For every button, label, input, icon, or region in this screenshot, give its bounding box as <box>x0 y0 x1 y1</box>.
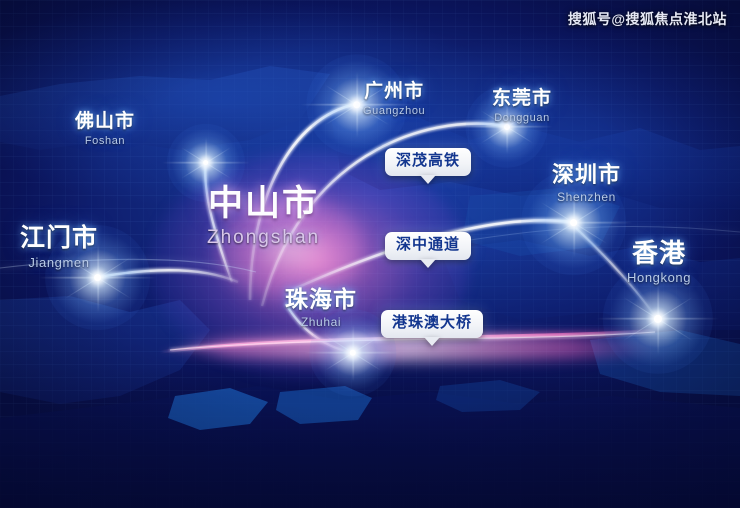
infrastructure-badge-hzmb-bridge[interactable]: 港珠澳大桥 <box>381 310 483 338</box>
city-label-hongkong: 香港 Hongkong <box>627 240 691 284</box>
badge-label: 深中通道 <box>396 237 460 254</box>
city-name-cn: 江门市 <box>20 226 98 251</box>
city-name-en: Zhongshan <box>207 228 320 247</box>
city-label-shenzhen: 深圳市 Shenzhen <box>552 164 621 203</box>
city-name-en: Foshan <box>75 136 135 147</box>
city-node-layer <box>0 0 1 1</box>
node-core <box>203 160 209 166</box>
city-node-jiangmen[interactable] <box>97 277 98 278</box>
city-name-en: Dongguan <box>492 113 552 124</box>
city-name-cn: 广州市 <box>363 82 425 101</box>
city-name-en: Guangzhou <box>363 106 425 117</box>
infrastructure-badge-shenmao-rail[interactable]: 深茂高铁 <box>385 148 471 176</box>
city-label-foshan: 佛山市 Foshan <box>75 112 135 147</box>
city-name-cn: 东莞市 <box>492 89 552 108</box>
city-node-foshan[interactable] <box>205 162 206 163</box>
city-label-zhuhai: 珠海市 Zhuhai <box>285 288 357 328</box>
city-name-en: Jiangmen <box>20 256 98 269</box>
infrastructure-badge-shenzhong-link[interactable]: 深中通道 <box>385 232 471 260</box>
city-node-hongkong[interactable] <box>657 318 658 319</box>
city-label-dongguan: 东莞市 Dongguan <box>492 89 552 124</box>
city-name-en: Shenzhen <box>552 191 621 203</box>
city-node-zhuhai[interactable] <box>352 352 353 353</box>
node-core <box>94 274 102 282</box>
city-name-cn: 深圳市 <box>552 164 621 186</box>
city-name-cn: 香港 <box>627 240 691 266</box>
city-label-zhongshan: 中山市 Zhongshan <box>207 186 320 247</box>
city-label-guangzhou: 广州市 Guangzhou <box>363 82 425 117</box>
node-core <box>570 219 578 227</box>
city-name-cn: 佛山市 <box>75 112 135 131</box>
city-node-guangzhou[interactable] <box>356 104 357 105</box>
city-label-jiangmen: 江门市 Jiangmen <box>20 226 98 269</box>
badge-label: 港珠澳大桥 <box>392 315 472 332</box>
city-name-en: Hongkong <box>627 271 691 284</box>
map-infographic: 中山市 Zhongshan 佛山市 Foshan 广州市 Guangzhou 东… <box>0 0 740 508</box>
watermark: 搜狐号@搜狐焦点淮北站 <box>568 9 727 29</box>
city-node-shenzhen[interactable] <box>573 222 574 223</box>
city-node-dongguan[interactable] <box>506 126 507 127</box>
city-name-cn: 中山市 <box>207 186 320 221</box>
city-name-en: Zhuhai <box>285 316 357 328</box>
city-name-cn: 珠海市 <box>285 288 357 311</box>
badge-label: 深茂高铁 <box>396 153 460 170</box>
